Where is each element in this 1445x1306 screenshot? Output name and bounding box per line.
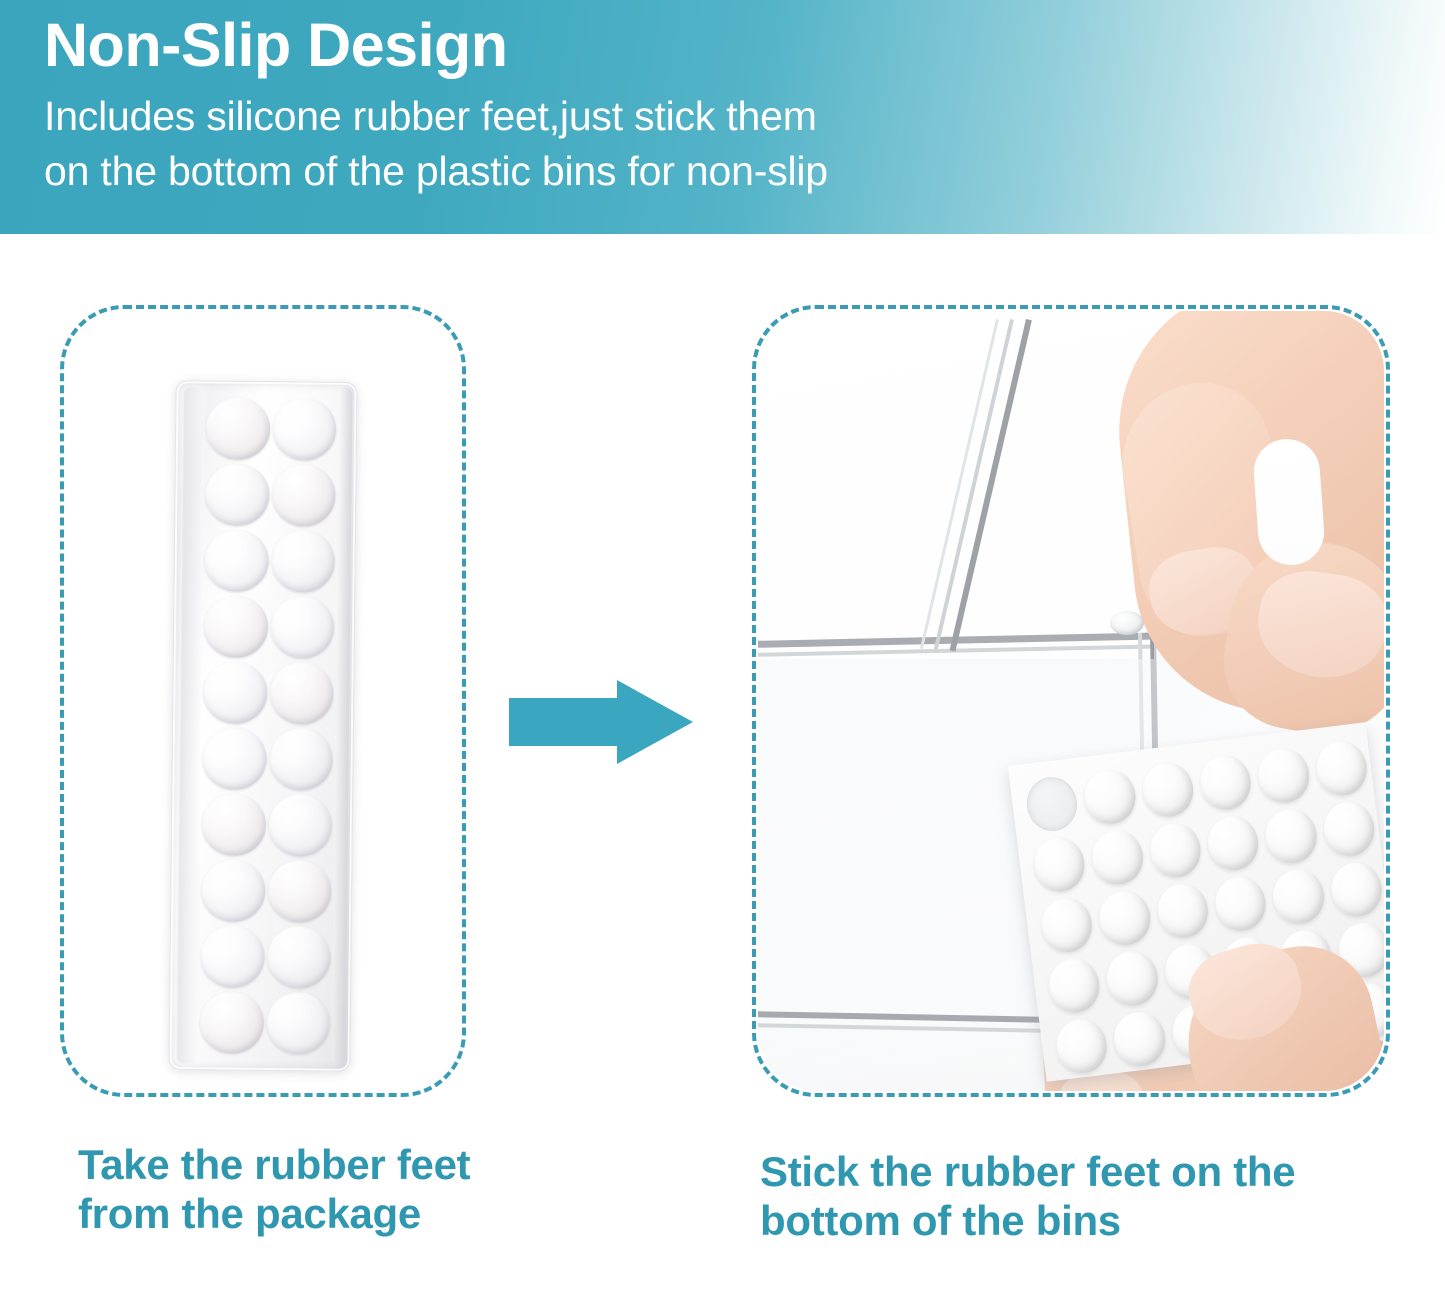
header-text-block: Non-Slip Design Includes silicone rubber… [44,14,1445,198]
silicone-foot [202,727,266,790]
step-1-panel [60,305,466,1097]
silicone-foot [270,662,334,725]
silicone-foot [1024,774,1081,834]
step-1-caption: Take the rubber feet from the package [78,1141,508,1238]
silicone-foot [1046,956,1103,1016]
step-2-panel [752,305,1390,1097]
silicone-foot [268,794,332,857]
page-title: Non-Slip Design [44,14,1445,77]
silicone-foot [269,728,333,791]
silicone-foot [1270,867,1327,927]
header-subtitle-line-1: Includes silicone rubber feet,just stick… [44,89,1445,144]
silicone-foot [1097,888,1154,948]
blister-feet-grid [200,397,337,1054]
silicone-foot [272,398,336,461]
silicone-foot [1111,1009,1168,1069]
silicone-foot [1205,813,1262,873]
header-banner: Non-Slip Design Includes silicone rubber… [0,0,1445,234]
silicone-foot [266,992,330,1055]
silicone-foot [1328,860,1384,920]
flow-arrow [509,680,693,764]
blister-pack-photo [64,309,462,1093]
silicone-foot [204,529,268,592]
silicone-foot [1082,767,1139,827]
step-2-caption: Stick the rubber feet on the bottom of t… [760,1148,1390,1245]
sticking-feet-photo [758,311,1384,1091]
silicone-foot [272,464,336,527]
silicone-foot [1039,895,1096,955]
silicone-foot [1197,753,1254,813]
silicone-foot [1321,799,1378,859]
silicone-foot [271,530,335,593]
silicone-foot [206,397,270,460]
silicone-foot [1054,1016,1111,1076]
silicone-foot [200,991,264,1054]
silicone-foot [1313,739,1370,799]
silicone-foot [203,661,267,724]
silicone-foot [201,859,265,922]
silicone-foot [1212,874,1269,934]
silicone-foot [1154,881,1211,941]
silicone-foot [267,926,331,989]
silicone-foot [205,463,269,526]
blister-pack-strip [168,380,357,1072]
silicone-foot [200,925,264,988]
silicone-foot [1089,828,1146,888]
silicone-foot [1147,820,1204,880]
silicone-foot [204,595,268,658]
silicone-foot [1140,760,1197,820]
silicone-foot [202,793,266,856]
silicone-foot [270,596,334,659]
silicone-foot [1104,949,1161,1009]
silicone-foot [1263,806,1320,866]
silicone-foot [1031,835,1088,895]
silicone-foot [1255,746,1312,806]
header-subtitle-line-2: on the bottom of the plastic bins for no… [44,144,1445,199]
silicone-foot [267,860,331,923]
silicone-foot-on-corner [1110,611,1144,635]
